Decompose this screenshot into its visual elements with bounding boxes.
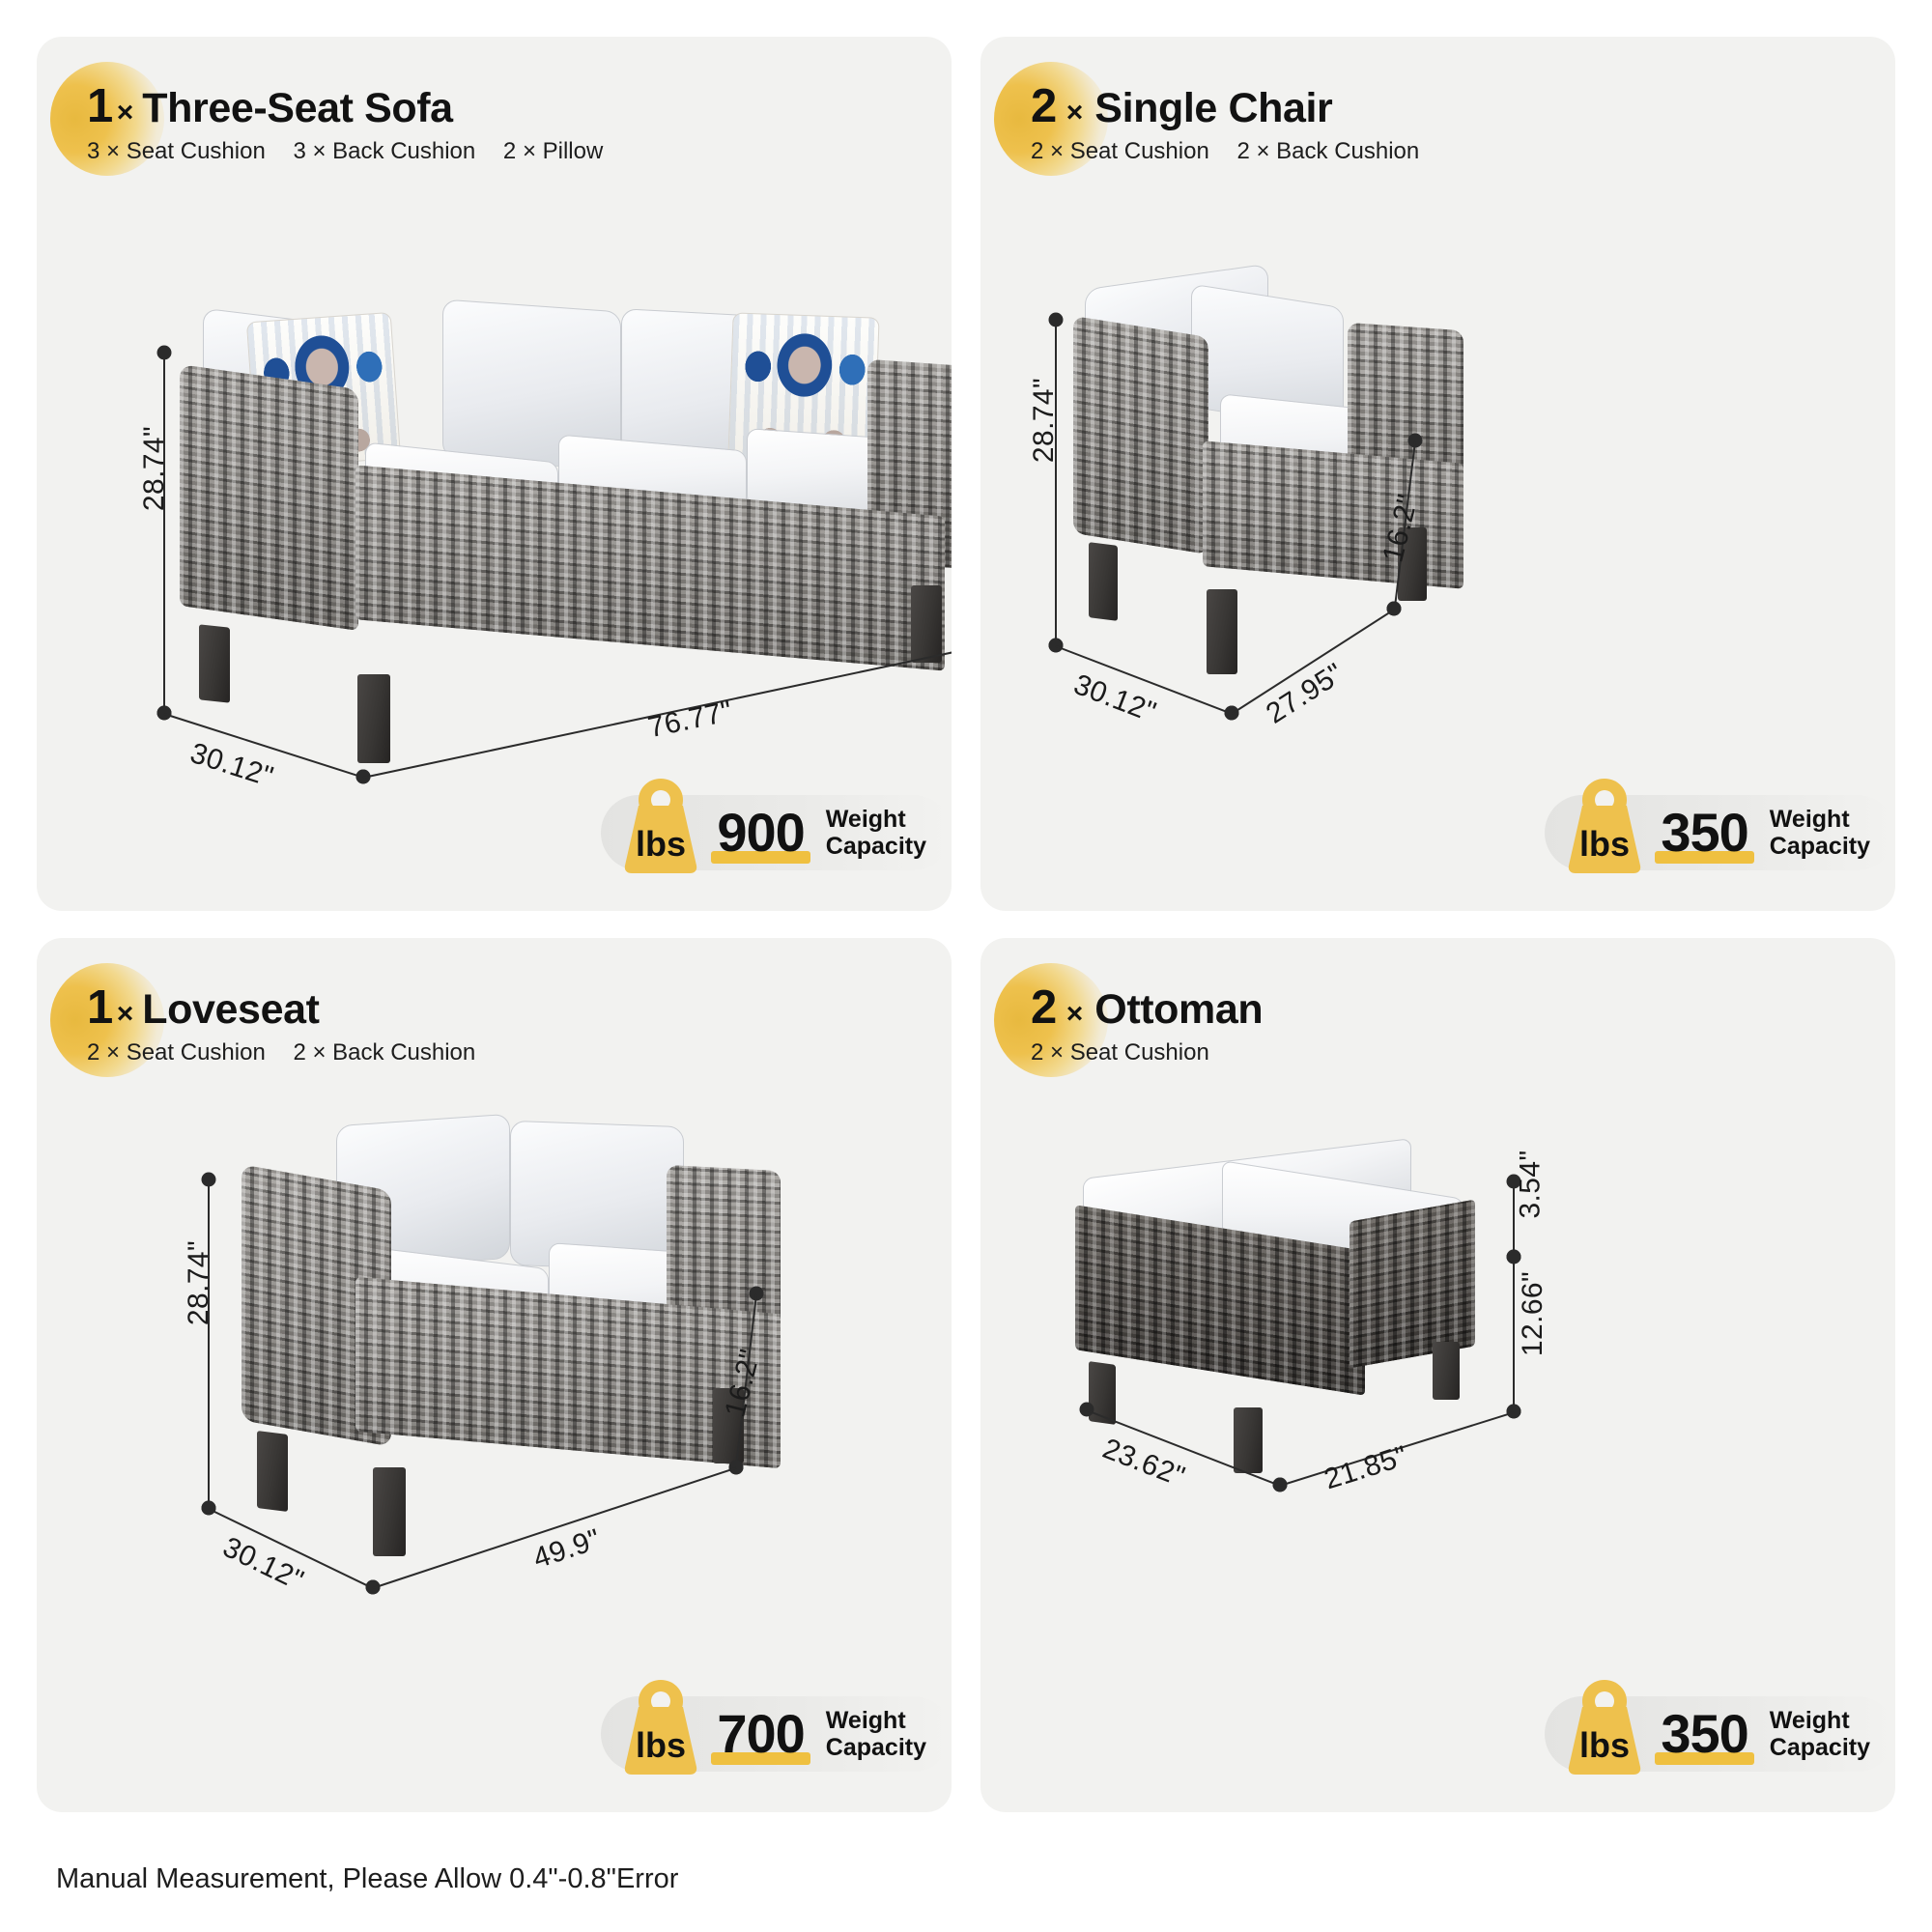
sofa-illustration: [37, 37, 952, 911]
weight-capacity-badge: lbs 350 Weight Capacity: [1545, 795, 1895, 870]
weight-capacity-label: Weight Capacity: [826, 1707, 926, 1761]
include-item: 2 × Seat Cushion: [87, 1039, 266, 1065]
title-row: 2 × Single Chair: [1031, 79, 1419, 133]
include-item: 3 × Back Cushion: [293, 138, 475, 164]
sofa-leg: [357, 674, 390, 763]
sofa-leg: [911, 585, 942, 663]
weight-label-line1: Weight: [1770, 1707, 1870, 1734]
includes-list: 2 × Seat Cushion 2 × Back Cushion: [1031, 138, 1419, 165]
weight-capacity-badge: lbs 700 Weight Capacity: [601, 1696, 952, 1772]
weight-label-line1: Weight: [1770, 806, 1870, 833]
page-title: Ottoman: [1094, 986, 1263, 1034]
item-count: 1: [87, 79, 113, 133]
loveseat-illustration: [37, 938, 952, 1812]
weight-icon: lbs: [1552, 777, 1657, 873]
weight-capacity-label: Weight Capacity: [1770, 806, 1870, 860]
page-title: Single Chair: [1094, 85, 1332, 132]
include-item: 2 × Seat Cushion: [1031, 1039, 1209, 1065]
chair-left-arm: [1073, 316, 1208, 554]
panel-header-loveseat: 1 × Loveseat 2 × Seat Cushion 2 × Back C…: [87, 980, 475, 1066]
dim-label-height: 28.74": [1028, 378, 1061, 463]
svg-text:lbs: lbs: [1579, 1725, 1630, 1765]
weight-label-line1: Weight: [826, 1707, 926, 1734]
dim-label-cushion-height: 3.54": [1515, 1150, 1548, 1218]
dim-line: [1055, 321, 1057, 646]
sofa-leg: [199, 624, 230, 702]
panel-ottoman: 2 × Ottoman 2 × Seat Cushion: [980, 938, 1895, 1812]
panel-three-seat-sofa: 1 × Three-Seat Sofa 3 × Seat Cushion 3 ×…: [37, 37, 952, 911]
panel-single-chair: 2 × Single Chair 2 × Seat Cushion 2 × Ba…: [980, 37, 1895, 911]
multiply-icon: ×: [117, 998, 134, 1031]
title-row: 2 × Ottoman: [1031, 980, 1263, 1035]
item-count: 1: [87, 980, 113, 1035]
ottoman-illustration: [980, 938, 1895, 1812]
weight-capacity-value: 900: [711, 806, 810, 860]
include-item: 2 × Pillow: [503, 138, 603, 164]
dim-line: [1513, 1258, 1515, 1412]
dim-line: [163, 354, 165, 714]
measurement-disclaimer: Manual Measurement, Please Allow 0.4"-0.…: [56, 1863, 678, 1895]
multiply-icon: ×: [1066, 97, 1084, 129]
weight-capacity-label: Weight Capacity: [826, 806, 926, 860]
chair-leg: [1207, 589, 1237, 674]
chair-illustration: [980, 37, 1895, 911]
includes-list: 3 × Seat Cushion 3 × Back Cushion 2 × Pi…: [87, 138, 603, 165]
weight-icon: lbs: [609, 1678, 713, 1775]
weight-capacity-badge: lbs 900 Weight Capacity: [601, 795, 952, 870]
weight-label-line1: Weight: [826, 806, 926, 833]
weight-capacity-badge: lbs 350 Weight Capacity: [1545, 1696, 1895, 1772]
weight-label-line2: Capacity: [1770, 833, 1870, 860]
sofa-left-arm: [180, 364, 358, 631]
panel-header-ottoman: 2 × Ottoman 2 × Seat Cushion: [1031, 980, 1263, 1066]
title-row: 1 × Loveseat: [87, 980, 475, 1035]
weight-label-line2: Capacity: [1770, 1734, 1870, 1761]
panel-loveseat: 1 × Loveseat 2 × Seat Cushion 2 × Back C…: [37, 938, 952, 1812]
panel-header-single-chair: 2 × Single Chair 2 × Seat Cushion 2 × Ba…: [1031, 79, 1419, 165]
dim-label-height: 28.74": [183, 1240, 215, 1325]
panel-grid: 1 × Three-Seat Sofa 3 × Seat Cushion 3 ×…: [37, 37, 1895, 1812]
panel-header-three-seat-sofa: 1 × Three-Seat Sofa 3 × Seat Cushion 3 ×…: [87, 79, 603, 165]
svg-text:lbs: lbs: [636, 1725, 686, 1765]
loveseat-leg: [257, 1431, 288, 1512]
weight-icon: lbs: [609, 777, 713, 873]
include-item: 2 × Back Cushion: [1236, 138, 1419, 164]
multiply-icon: ×: [1066, 998, 1084, 1031]
weight-capacity-value: 350: [1655, 1707, 1753, 1761]
loveseat-leg: [373, 1467, 406, 1556]
dim-label-height: 28.74": [138, 426, 171, 511]
dim-line: [208, 1180, 210, 1509]
svg-text:lbs: lbs: [1579, 824, 1630, 864]
include-item: 2 × Back Cushion: [293, 1039, 475, 1065]
include-item: 3 × Seat Cushion: [87, 138, 266, 164]
includes-list: 2 × Seat Cushion 2 × Back Cushion: [87, 1039, 475, 1066]
weight-capacity-value: 350: [1655, 806, 1753, 860]
weight-label-line2: Capacity: [826, 833, 926, 860]
svg-text:lbs: lbs: [636, 824, 686, 864]
title-row: 1 × Three-Seat Sofa: [87, 79, 603, 133]
weight-icon: lbs: [1552, 1678, 1657, 1775]
page-title: Loveseat: [142, 986, 319, 1034]
ottoman-leg: [1234, 1407, 1263, 1473]
weight-label-line2: Capacity: [826, 1734, 926, 1761]
include-item: 2 × Seat Cushion: [1031, 138, 1209, 164]
product-dimension-sheet: 1 × Three-Seat Sofa 3 × Seat Cushion 3 ×…: [0, 0, 1932, 1932]
weight-capacity-label: Weight Capacity: [1770, 1707, 1870, 1761]
multiply-icon: ×: [117, 97, 134, 129]
dim-label-base-height: 12.66": [1517, 1271, 1549, 1356]
page-title: Three-Seat Sofa: [142, 85, 452, 132]
item-count: 2: [1031, 79, 1057, 133]
ottoman-leg: [1433, 1342, 1460, 1400]
weight-capacity-value: 700: [711, 1707, 810, 1761]
item-count: 2: [1031, 980, 1057, 1035]
includes-list: 2 × Seat Cushion: [1031, 1039, 1263, 1066]
chair-leg: [1089, 542, 1118, 621]
